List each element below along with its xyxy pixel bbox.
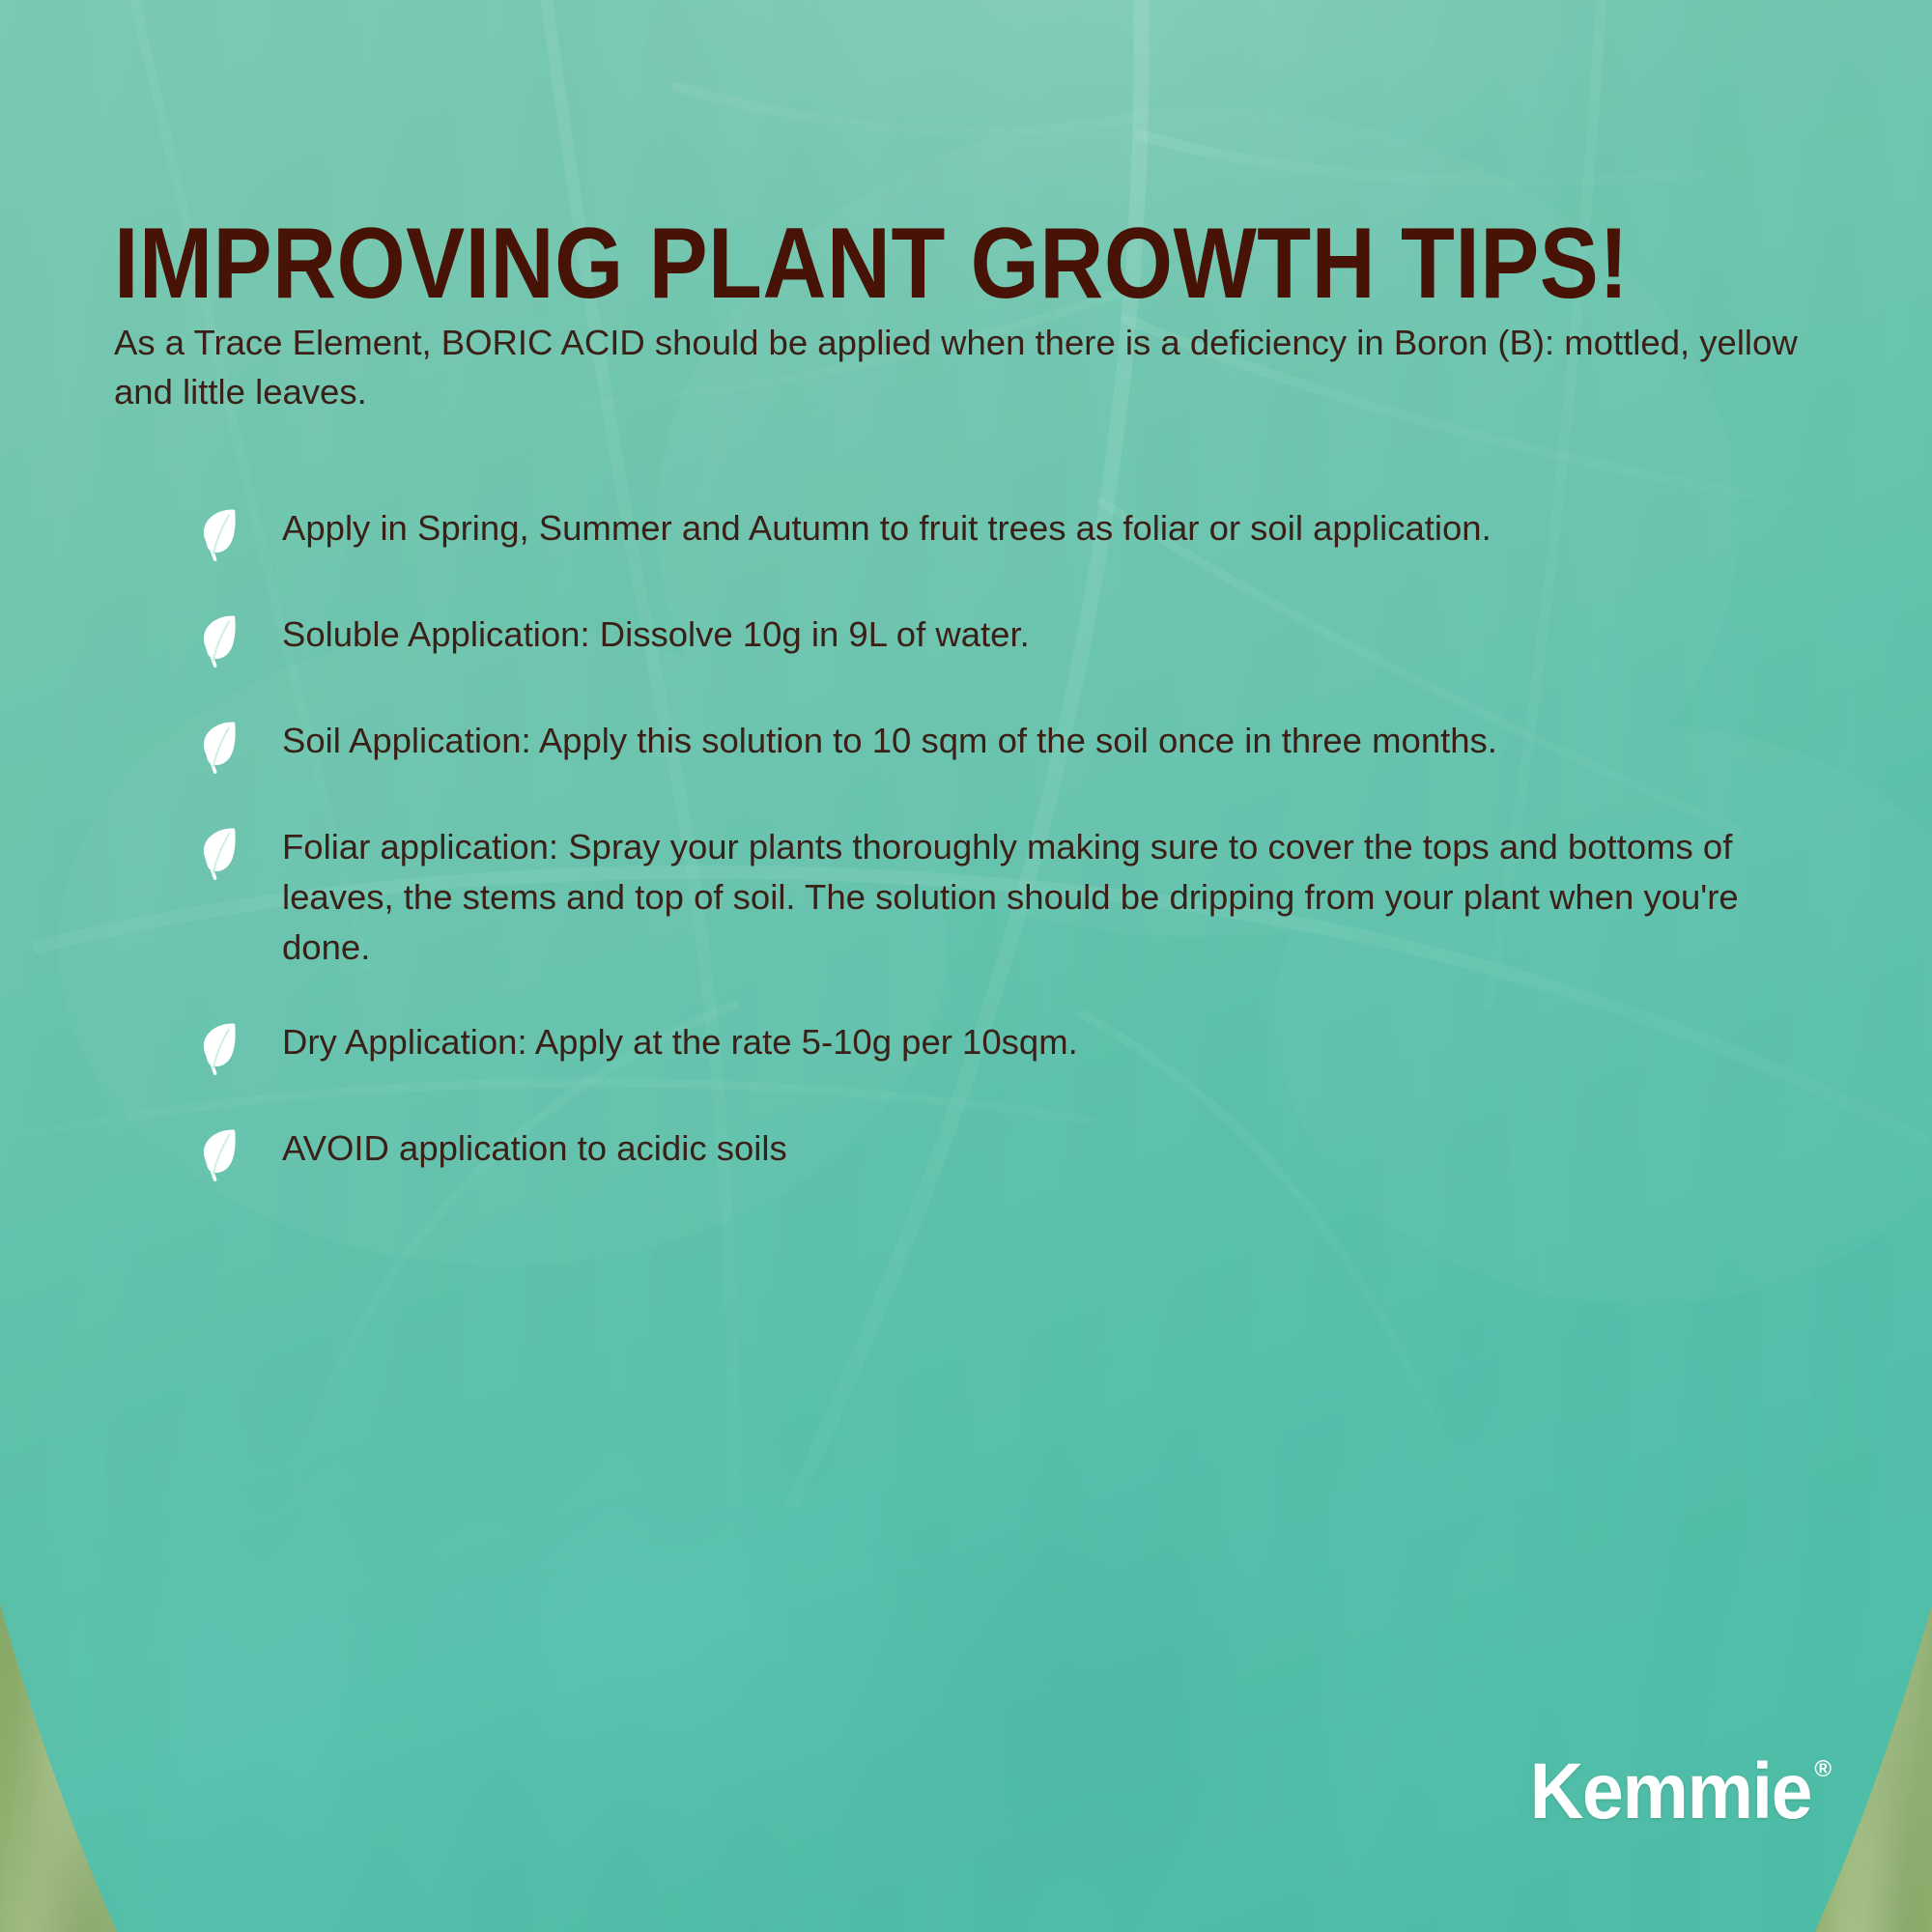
intro-paragraph: As a Trace Element, BORIC ACID should be…: [114, 318, 1814, 418]
brand-logo-text: Kemmie: [1530, 1752, 1811, 1832]
list-item-text: Dry Application: Apply at the rate 5-10g…: [282, 1016, 1818, 1067]
leaf-icon: [193, 717, 253, 777]
poster-canvas: IMPROVING PLANT GROWTH TIPS! As a Trace …: [0, 0, 1932, 1932]
list-item-text: Soluble Application: Dissolve 10g in 9L …: [282, 609, 1818, 660]
list-item: Dry Application: Apply at the rate 5-10g…: [193, 1016, 1835, 1078]
list-item: Foliar application: Spray your plants th…: [193, 821, 1835, 972]
registered-trademark-icon: ®: [1814, 1758, 1832, 1781]
list-item: Apply in Spring, Summer and Autumn to fr…: [193, 502, 1835, 564]
leaf-icon: [193, 1124, 253, 1184]
leaf-icon: [193, 504, 253, 564]
leaf-icon: [193, 611, 253, 670]
list-item: Soil Application: Apply this solution to…: [193, 715, 1835, 777]
list-item-text: Apply in Spring, Summer and Autumn to fr…: [282, 502, 1818, 554]
tips-list: Apply in Spring, Summer and Autumn to fr…: [193, 502, 1835, 1184]
leaf-icon: [193, 823, 253, 883]
list-item-text: Foliar application: Spray your plants th…: [282, 821, 1818, 972]
list-item: AVOID application to acidic soils: [193, 1122, 1835, 1184]
list-item-text: Soil Application: Apply this solution to…: [282, 715, 1818, 766]
brand-logo: Kemmie ®: [1512, 1752, 1832, 1832]
list-item-text: AVOID application to acidic soils: [282, 1122, 1818, 1174]
leaf-icon: [193, 1018, 253, 1078]
list-item: Soluble Application: Dissolve 10g in 9L …: [193, 609, 1835, 670]
page-title: IMPROVING PLANT GROWTH TIPS!: [114, 213, 1610, 315]
